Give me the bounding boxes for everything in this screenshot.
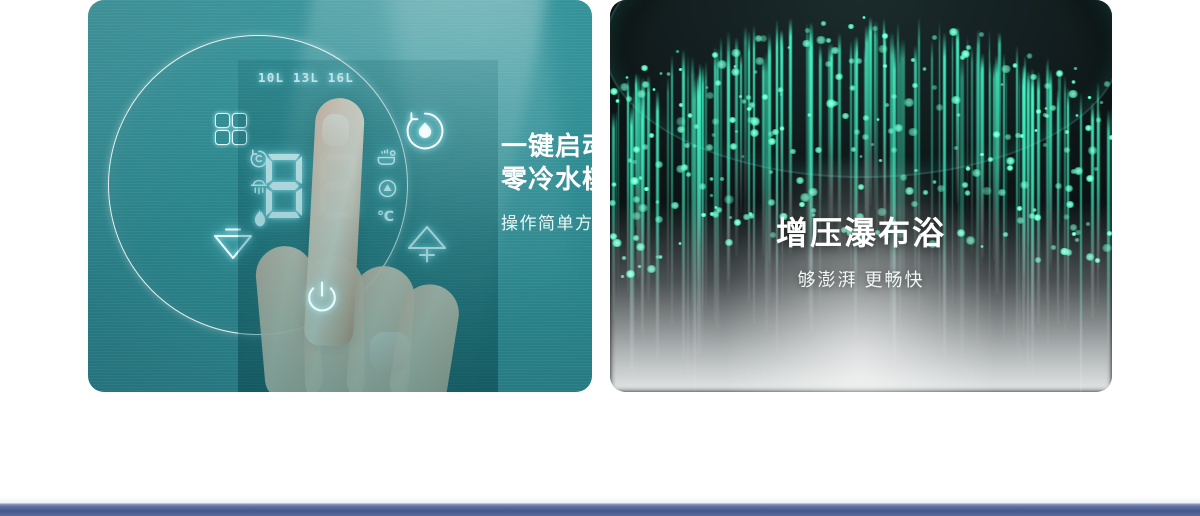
water-droplet [615, 99, 620, 103]
water-droplet [847, 24, 855, 30]
water-droplet [1054, 183, 1063, 189]
grid-cell [232, 113, 247, 128]
water-droplet [877, 45, 889, 54]
water-droplet [859, 155, 863, 158]
celsius-icon: ℃ [377, 208, 394, 225]
water-droplet [956, 113, 962, 117]
water-droplet [1085, 175, 1095, 182]
water-droplet [741, 99, 747, 103]
footer-sheen [0, 496, 1200, 503]
water-droplet [693, 124, 700, 129]
water-droplet [855, 58, 863, 64]
water-droplet [1070, 169, 1077, 174]
water-droplet [648, 133, 655, 138]
water-stream [998, 32, 1001, 189]
water-droplet [820, 21, 827, 26]
water-droplet [1005, 157, 1016, 165]
water-droplet [862, 16, 867, 19]
water-droplet [675, 165, 686, 173]
water-droplet [1000, 83, 1004, 86]
water-droplet [1075, 114, 1079, 117]
grid-cell [215, 130, 230, 145]
water-droplet [1029, 74, 1038, 80]
water-droplet [641, 144, 649, 150]
grid-menu-icon[interactable] [215, 113, 247, 145]
water-droplet [1014, 133, 1022, 139]
circle-triangle-icon [377, 178, 398, 204]
water-droplet [801, 40, 812, 48]
water-droplet [1055, 70, 1064, 77]
temperature-seven-segment-display: 88 [260, 150, 364, 227]
water-droplet [849, 85, 857, 91]
water-droplet [716, 60, 728, 68]
water-droplet [705, 144, 714, 150]
water-droplet [749, 117, 761, 125]
water-droplet [1103, 81, 1112, 87]
grid-cell [232, 130, 247, 145]
water-droplet [711, 118, 721, 125]
water-droplet [675, 117, 687, 126]
left-panel-copy: 一键启动 零冷水模式 操作简单方便 [501, 130, 592, 234]
water-droplet [931, 85, 939, 90]
water-droplet [738, 95, 743, 98]
increase-temp-button[interactable] [404, 222, 450, 264]
water-droplet [935, 104, 945, 111]
water-droplet [931, 35, 938, 40]
water-droplet [922, 67, 928, 71]
water-droplet [1095, 117, 1103, 123]
left-heading-line1: 一键启动 [501, 130, 592, 163]
water-droplet [992, 131, 1001, 138]
water-droplet [1067, 90, 1078, 98]
power-button[interactable] [300, 276, 344, 320]
water-droplet [636, 90, 648, 98]
water-droplet [777, 87, 785, 92]
water-droplet [654, 161, 664, 168]
water-droplet [882, 64, 888, 68]
water-droplet [997, 189, 1007, 196]
water-droplet [948, 28, 959, 36]
water-droplet [1034, 129, 1038, 132]
water-droplet [641, 81, 650, 88]
water-droplet [848, 58, 855, 63]
water-droplet [745, 95, 752, 100]
water-droplet [881, 33, 889, 39]
water-droplet [1006, 165, 1014, 171]
decrease-temp-button[interactable] [210, 222, 256, 264]
water-droplet [804, 28, 811, 33]
water-droplet [825, 99, 837, 108]
water-droplet [978, 32, 985, 37]
water-droplet [1000, 65, 1012, 74]
water-droplet [610, 88, 619, 95]
page-stage: 10L 13L 16L [0, 0, 1200, 515]
water-droplet [903, 98, 915, 107]
water-droplet [676, 126, 686, 133]
water-droplet [730, 68, 741, 76]
left-heading-line2: 零冷水模式 [501, 163, 592, 196]
footer-bar [0, 503, 1200, 516]
water-droplet [876, 118, 881, 121]
right-subtext: 够澎湃 更畅快 [610, 266, 1112, 292]
water-droplet [1073, 67, 1078, 71]
water-recirculate-button[interactable] [404, 110, 446, 152]
pressurized-waterfall-shower-card: 增压瀑布浴 够澎湃 更畅快 [610, 0, 1112, 392]
water-droplet [741, 155, 745, 158]
water-droplet [675, 50, 680, 54]
water-droplet [638, 176, 643, 180]
water-droplet [1019, 181, 1030, 189]
water-droplet [640, 65, 649, 72]
water-droplet [698, 183, 708, 190]
left-subtext: 操作简单方便 [501, 209, 592, 234]
water-droplet [678, 103, 684, 107]
water-droplet [709, 177, 715, 181]
water-droplet [1087, 96, 1092, 99]
water-droplet [734, 130, 739, 133]
water-droplet [960, 50, 971, 58]
water-droplet [1108, 135, 1112, 140]
water-droplet [853, 129, 861, 135]
water-droplet [835, 73, 844, 80]
water-droplet [687, 113, 693, 118]
bathtub-icon [376, 148, 398, 173]
water-droplet [619, 83, 630, 91]
water-droplet [749, 129, 760, 137]
water-stream [780, 30, 782, 181]
water-droplet [1026, 53, 1034, 59]
water-droplet [1035, 109, 1042, 114]
water-droplet [678, 68, 683, 72]
water-droplet [979, 153, 984, 157]
water-droplet [1099, 101, 1104, 104]
water-droplet [1044, 114, 1050, 118]
water-droplet [1087, 146, 1099, 154]
water-droplet [871, 26, 879, 32]
water-droplet [807, 113, 812, 117]
water-droplet [953, 146, 959, 150]
liters-capacity-label: 10L 13L 16L [206, 70, 406, 85]
water-droplet [767, 138, 777, 145]
water-droplet [746, 107, 752, 112]
right-panel-copy: 增压瀑布浴 够澎湃 更畅快 [610, 208, 1112, 292]
water-droplet [659, 72, 664, 75]
water-droplet [911, 83, 919, 89]
water-droplet [683, 143, 691, 148]
water-droplet [779, 93, 783, 96]
water-droplet [841, 113, 850, 119]
water-droplet [779, 126, 785, 131]
water-droplet [1004, 134, 1012, 139]
zero-cold-water-feature-card: 10L 13L 16L [88, 0, 592, 392]
water-droplet [890, 147, 898, 153]
water-droplet [711, 52, 719, 58]
water-droplet [1064, 185, 1074, 192]
thumbnail-highlight [370, 332, 410, 372]
water-droplet [632, 146, 641, 153]
water-droplet [729, 143, 738, 150]
grid-cell [215, 113, 230, 128]
water-droplet [753, 70, 758, 74]
water-droplet [631, 160, 637, 165]
water-droplet [1064, 130, 1071, 135]
water-droplet [907, 128, 919, 136]
water-droplet [754, 57, 765, 65]
knuckle-shape [387, 280, 463, 392]
right-heading: 增压瀑布浴 [610, 208, 1112, 254]
water-droplet [652, 88, 656, 91]
water-droplet [789, 149, 797, 155]
water-droplet [1063, 147, 1071, 153]
water-droplet [719, 177, 725, 182]
water-droplet [1071, 80, 1076, 84]
